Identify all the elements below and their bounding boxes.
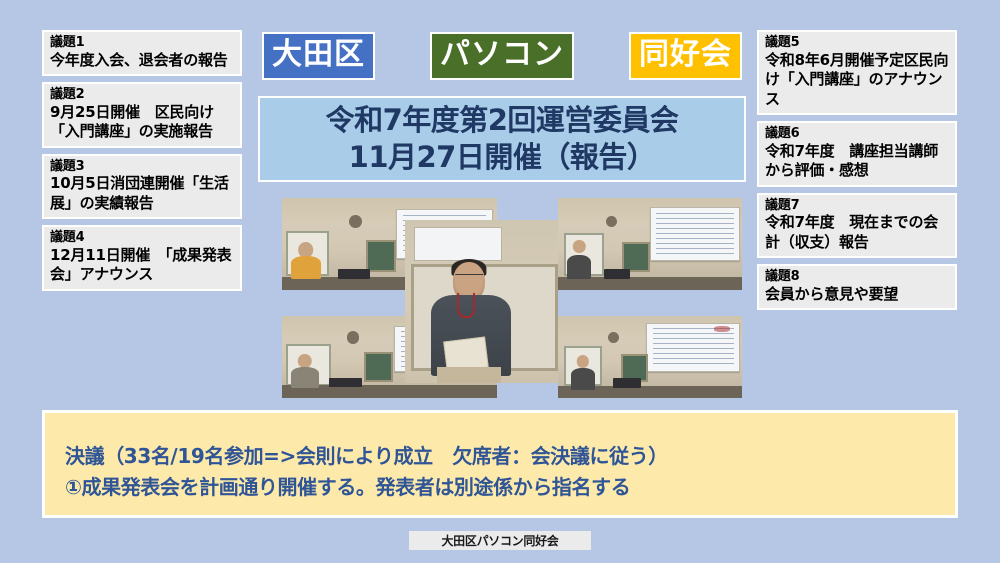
slide-canvas: 議題1 今年度入会、退会者の報告 議題2 9月25日開催 区民向け「入門講座」の… — [0, 0, 1000, 563]
agenda-card-1[interactable]: 議題1 今年度入会、退会者の報告 — [42, 30, 242, 76]
page-title-line2: 11月27日開催（報告） — [349, 139, 656, 176]
logo-ward-box: 大田区 — [262, 32, 375, 80]
lanyard — [457, 293, 475, 318]
agenda-card-8[interactable]: 議題8 会員から意見や要望 — [757, 264, 957, 310]
photo-bottom-right — [558, 316, 742, 398]
logo-pc-box: パソコン — [430, 32, 574, 80]
agenda-number-7: 議題7 — [765, 198, 949, 214]
photo-collage — [262, 190, 742, 398]
agenda-number-5: 議題5 — [765, 35, 949, 51]
agenda-number-1: 議題1 — [50, 35, 234, 51]
agenda-text-2: 9月25日開催 区民向け「入門講座」の実施報告 — [50, 103, 234, 142]
projector-screen — [414, 227, 502, 262]
agenda-text-6: 令和7年度 講座担当講師から評価・感想 — [765, 142, 949, 181]
agenda-number-4: 議題4 — [50, 230, 234, 246]
agenda-card-5[interactable]: 議題5 令和8年6月開催予定区民向け「入門講座」のアナウンス — [757, 30, 957, 115]
agenda-list-right: 議題5 令和8年6月開催予定区民向け「入門講座」のアナウンス 議題6 令和7年度… — [757, 30, 957, 316]
speaker-lower-body — [437, 367, 501, 383]
photo-center-speaker — [405, 220, 558, 383]
resolution-box: 決議（33名/19名参加=>会則により成立 欠席者：会決議に従う） ①成果発表会… — [42, 410, 958, 518]
club-logo-row: 大田区 パソコン 同好会 — [262, 32, 742, 80]
photo-top-right — [558, 198, 742, 290]
glasses-icon — [455, 274, 483, 282]
agenda-text-7: 令和7年度 現在までの会計（収支）報告 — [765, 213, 949, 252]
resolution-line-1: 決議（33名/19名参加=>会則により成立 欠席者：会決議に従う） — [65, 441, 955, 472]
agenda-card-2[interactable]: 議題2 9月25日開催 区民向け「入門講座」の実施報告 — [42, 82, 242, 148]
agenda-text-8: 会員から意見や要望 — [765, 285, 949, 305]
agenda-card-7[interactable]: 議題7 令和7年度 現在までの会計（収支）報告 — [757, 193, 957, 259]
agenda-text-1: 今年度入会、退会者の報告 — [50, 51, 234, 71]
agenda-list-left: 議題1 今年度入会、退会者の報告 議題2 9月25日開催 区民向け「入門講座」の… — [42, 30, 242, 297]
agenda-number-2: 議題2 — [50, 87, 234, 103]
footer-club-name: 大田区パソコン同好会 — [409, 531, 591, 550]
agenda-card-4[interactable]: 議題4 12月11日開催 「成果発表会」アナウンス — [42, 225, 242, 291]
agenda-card-6[interactable]: 議題6 令和7年度 講座担当講師から評価・感想 — [757, 121, 957, 187]
resolution-line-2: ①成果発表会を計画通り開催する。発表者は別途係から指名する — [65, 472, 955, 503]
agenda-text-5: 令和8年6月開催予定区民向け「入門講座」のアナウンス — [765, 51, 949, 110]
agenda-text-3: 10月5日消団連開催「生活展」の実績報告 — [50, 174, 234, 213]
page-title: 令和7年度第2回運営委員会 11月27日開催（報告） — [258, 96, 746, 182]
page-title-line1: 令和7年度第2回運営委員会 — [326, 102, 679, 139]
agenda-number-3: 議題3 — [50, 159, 234, 175]
agenda-number-6: 議題6 — [765, 126, 949, 142]
agenda-card-3[interactable]: 議題3 10月5日消団連開催「生活展」の実績報告 — [42, 154, 242, 220]
agenda-number-8: 議題8 — [765, 269, 949, 285]
agenda-text-4: 12月11日開催 「成果発表会」アナウンス — [50, 246, 234, 285]
logo-club-box: 同好会 — [629, 32, 742, 80]
